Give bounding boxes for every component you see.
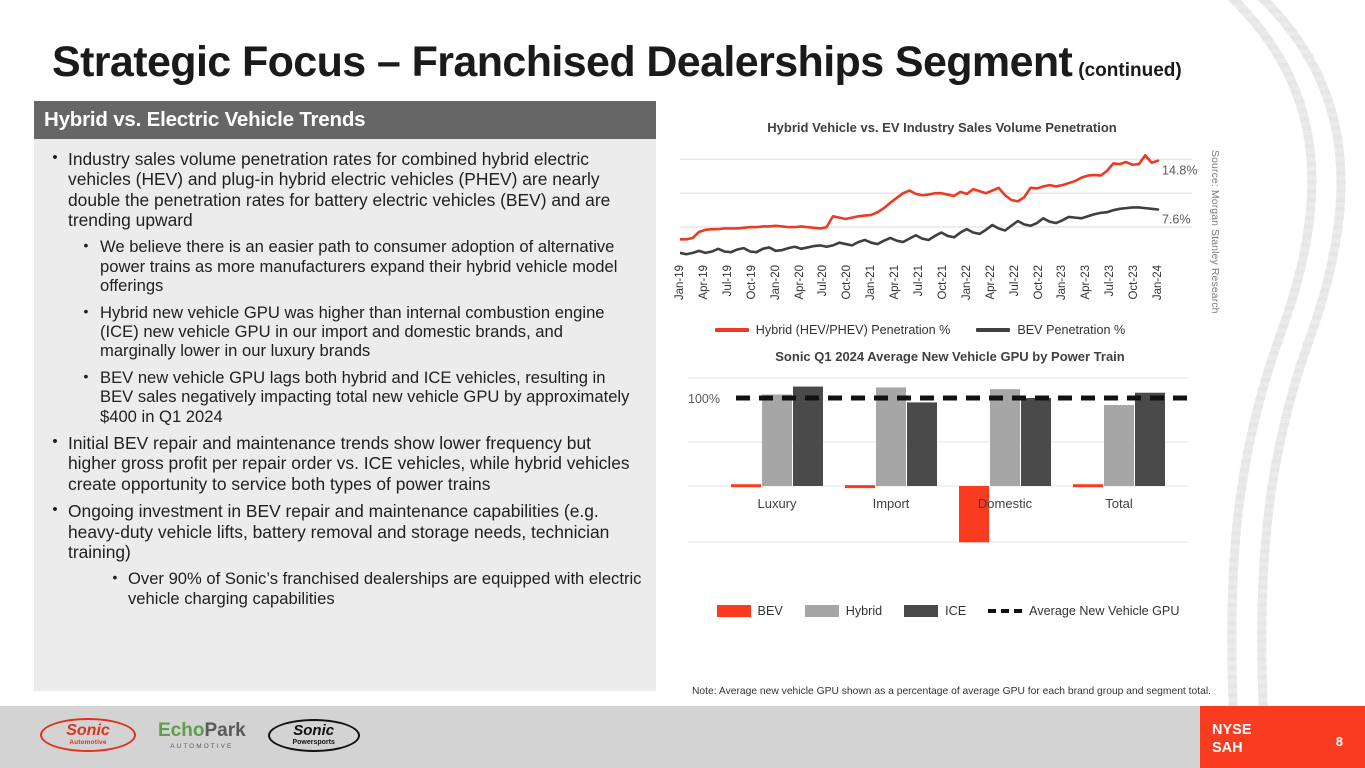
bullet-marker: • (42, 433, 68, 494)
bar (1135, 393, 1165, 486)
echopark-logo-word2: AUTOMOTIVE (158, 743, 246, 750)
x-axis-tick-label: Oct-21 (937, 265, 949, 300)
bullet-item: •Hybrid new vehicle GPU was higher than … (42, 303, 642, 361)
legend-item: ICE (904, 604, 966, 618)
page-number: 8 (1336, 734, 1343, 749)
x-axis-tick-label: Apr-20 (794, 265, 806, 300)
bar (762, 394, 792, 486)
legend-item: BEV Penetration % (976, 323, 1125, 337)
bullet-text: BEV new vehicle GPU lags both hybrid and… (100, 368, 642, 426)
charts-column: Hybrid Vehicle vs. EV Industry Sales Vol… (660, 101, 1220, 701)
legend-swatch (805, 605, 839, 617)
x-axis-tick-label: Oct-23 (1128, 265, 1140, 300)
series-end-label: 7.6% (1162, 212, 1191, 226)
bullet-text: Over 90% of Sonic’s franchised dealershi… (128, 569, 642, 608)
bar (1021, 398, 1051, 486)
bar-category-label: Luxury (757, 496, 797, 511)
sonic-powersports-logo-word2: Powersports (292, 738, 334, 747)
bullet-text: Industry sales volume penetration rates … (68, 149, 642, 230)
echopark-logo-word1a: Echo (158, 720, 204, 741)
bullet-marker: • (42, 501, 68, 562)
bar (1104, 405, 1134, 486)
legend-item: BEV (717, 604, 783, 618)
logo-row: Sonic Automotive EchoPark AUTOMOTIVE Son… (40, 718, 360, 752)
sonic-automotive-logo: Sonic Automotive (40, 718, 136, 752)
page-title-continued: (continued) (1078, 60, 1181, 81)
x-axis-tick-label: Jul-23 (1104, 265, 1116, 296)
bar-chart-title: Sonic Q1 2024 Average New Vehicle GPU by… (690, 349, 1210, 364)
x-axis-tick-label: Jan-20 (770, 265, 782, 300)
chart-source-label: Source: Morgan Stanley Research (1209, 150, 1221, 314)
echopark-logo: EchoPark AUTOMOTIVE (158, 721, 246, 750)
legend-label: BEV Penetration % (1017, 323, 1125, 337)
legend-item: Hybrid (HEV/PHEV) Penetration % (715, 323, 951, 337)
sonic-automotive-logo-word2: Automotive (69, 739, 106, 748)
exchange-label: NYSE (1212, 721, 1252, 739)
line-chart-x-axis: Jan-19Apr-19Jul-19Oct-19Jan-20Apr-20Jul-… (680, 265, 1190, 323)
x-axis-tick-label: Oct-19 (746, 265, 758, 300)
bullet-marker: • (72, 237, 100, 295)
bullet-item: •We believe there is an easier path to c… (42, 237, 642, 295)
line-series (680, 207, 1158, 254)
echopark-logo-word1b: Park (204, 720, 245, 741)
x-axis-tick-label: Apr-23 (1080, 265, 1092, 300)
gpu-bar-chart: LuxuryImportDomesticTotal100% (684, 364, 1196, 594)
bar (959, 486, 989, 542)
legend-label: Hybrid (846, 604, 882, 618)
legend-swatch (976, 328, 1010, 332)
x-axis-tick-label: Apr-19 (698, 265, 710, 300)
legend-swatch (904, 605, 938, 617)
series-end-label: 14.8% (1162, 164, 1197, 178)
x-axis-tick-label: Jan-21 (865, 265, 877, 300)
legend-item: Average New Vehicle GPU (988, 604, 1179, 618)
page-title: Strategic Focus – Franchised Dealerships… (52, 38, 1182, 87)
page-title-main: Strategic Focus – Franchised Dealerships… (52, 38, 1072, 86)
sonic-powersports-logo: Sonic Powersports (268, 719, 360, 752)
bullet-marker: • (102, 569, 128, 608)
bullet-item: •BEV new vehicle GPU lags both hybrid an… (42, 368, 642, 426)
hybrid-ev-trends-panel: Hybrid vs. Electric Vehicle Trends •Indu… (34, 101, 656, 691)
sonic-automotive-logo-word1: Sonic (66, 723, 110, 739)
bar-chart-legend: BEVHybridICEAverage New Vehicle GPU (688, 604, 1208, 618)
bullet-item: •Industry sales volume penetration rates… (42, 149, 642, 230)
legend-label: ICE (945, 604, 966, 618)
bar (990, 389, 1020, 486)
bar (793, 387, 823, 486)
bar-category-label: Domestic (978, 496, 1033, 511)
legend-item: Hybrid (805, 604, 882, 618)
bar-category-label: Total (1105, 496, 1133, 511)
chart-note: Note: Average new vehicle GPU shown as a… (692, 686, 1211, 697)
echopark-logo-wordmark: EchoPark (158, 721, 246, 740)
x-axis-tick-label: Jan-22 (961, 265, 973, 300)
bar (845, 485, 875, 488)
bullet-marker: • (72, 368, 100, 426)
bullet-marker: • (72, 303, 100, 361)
legend-swatch (715, 328, 749, 332)
bullet-text: We believe there is an easier path to co… (100, 237, 642, 295)
panel-header: Hybrid vs. Electric Vehicle Trends (34, 101, 656, 139)
x-axis-tick-label: Jul-20 (817, 265, 829, 296)
x-axis-tick-label: Apr-22 (985, 265, 997, 300)
x-axis-tick-label: Jul-21 (913, 265, 925, 296)
legend-label: Average New Vehicle GPU (1029, 604, 1179, 618)
legend-label: BEV (758, 604, 783, 618)
bullet-marker: • (42, 149, 68, 230)
x-axis-tick-label: Oct-22 (1033, 265, 1045, 300)
x-axis-tick-label: Apr-21 (889, 265, 901, 300)
legend-label: Hybrid (HEV/PHEV) Penetration % (756, 323, 951, 337)
bullet-item: •Over 90% of Sonic’s franchised dealersh… (42, 569, 642, 608)
x-axis-tick-label: Jan-24 (1152, 265, 1164, 300)
line-chart-title: Hybrid Vehicle vs. EV Industry Sales Vol… (682, 120, 1202, 135)
bullet-text: Hybrid new vehicle GPU was higher than i… (100, 303, 642, 361)
legend-swatch (717, 605, 751, 617)
bar (876, 387, 906, 486)
bullet-item: •Ongoing investment in BEV repair and ma… (42, 501, 642, 562)
bar (731, 484, 761, 487)
footer-bar: Sonic Automotive EchoPark AUTOMOTIVE Son… (0, 706, 1365, 768)
bullet-text: Initial BEV repair and maintenance trend… (68, 433, 642, 494)
sonic-powersports-logo-word1: Sonic (293, 723, 334, 738)
bar (1073, 484, 1103, 487)
line-chart-legend: Hybrid (HEV/PHEV) Penetration %BEV Penet… (660, 323, 1180, 337)
bullet-list: •Industry sales volume penetration rates… (34, 139, 656, 608)
x-axis-tick-label: Jul-19 (722, 265, 734, 296)
x-axis-tick-label: Jan-23 (1056, 265, 1068, 300)
bullet-item: •Initial BEV repair and maintenance tren… (42, 433, 642, 494)
x-axis-tick-label: Jan-19 (674, 265, 686, 300)
bar (907, 402, 937, 486)
x-axis-tick-label: Oct-20 (841, 265, 853, 300)
x-axis-tick-label: Jul-22 (1009, 265, 1021, 296)
nyse-ticker-text: NYSE SAH (1212, 721, 1252, 757)
penetration-line-chart: 14.8%7.6% (680, 135, 1200, 265)
reference-line-label: 100% (688, 392, 720, 406)
bullet-text: Ongoing investment in BEV repair and mai… (68, 501, 642, 562)
bar-category-label: Import (873, 496, 910, 511)
ticker-label: SAH (1212, 739, 1252, 757)
nyse-ticker-badge: NYSE SAH 8 (1200, 706, 1365, 768)
legend-swatch (988, 609, 1022, 613)
